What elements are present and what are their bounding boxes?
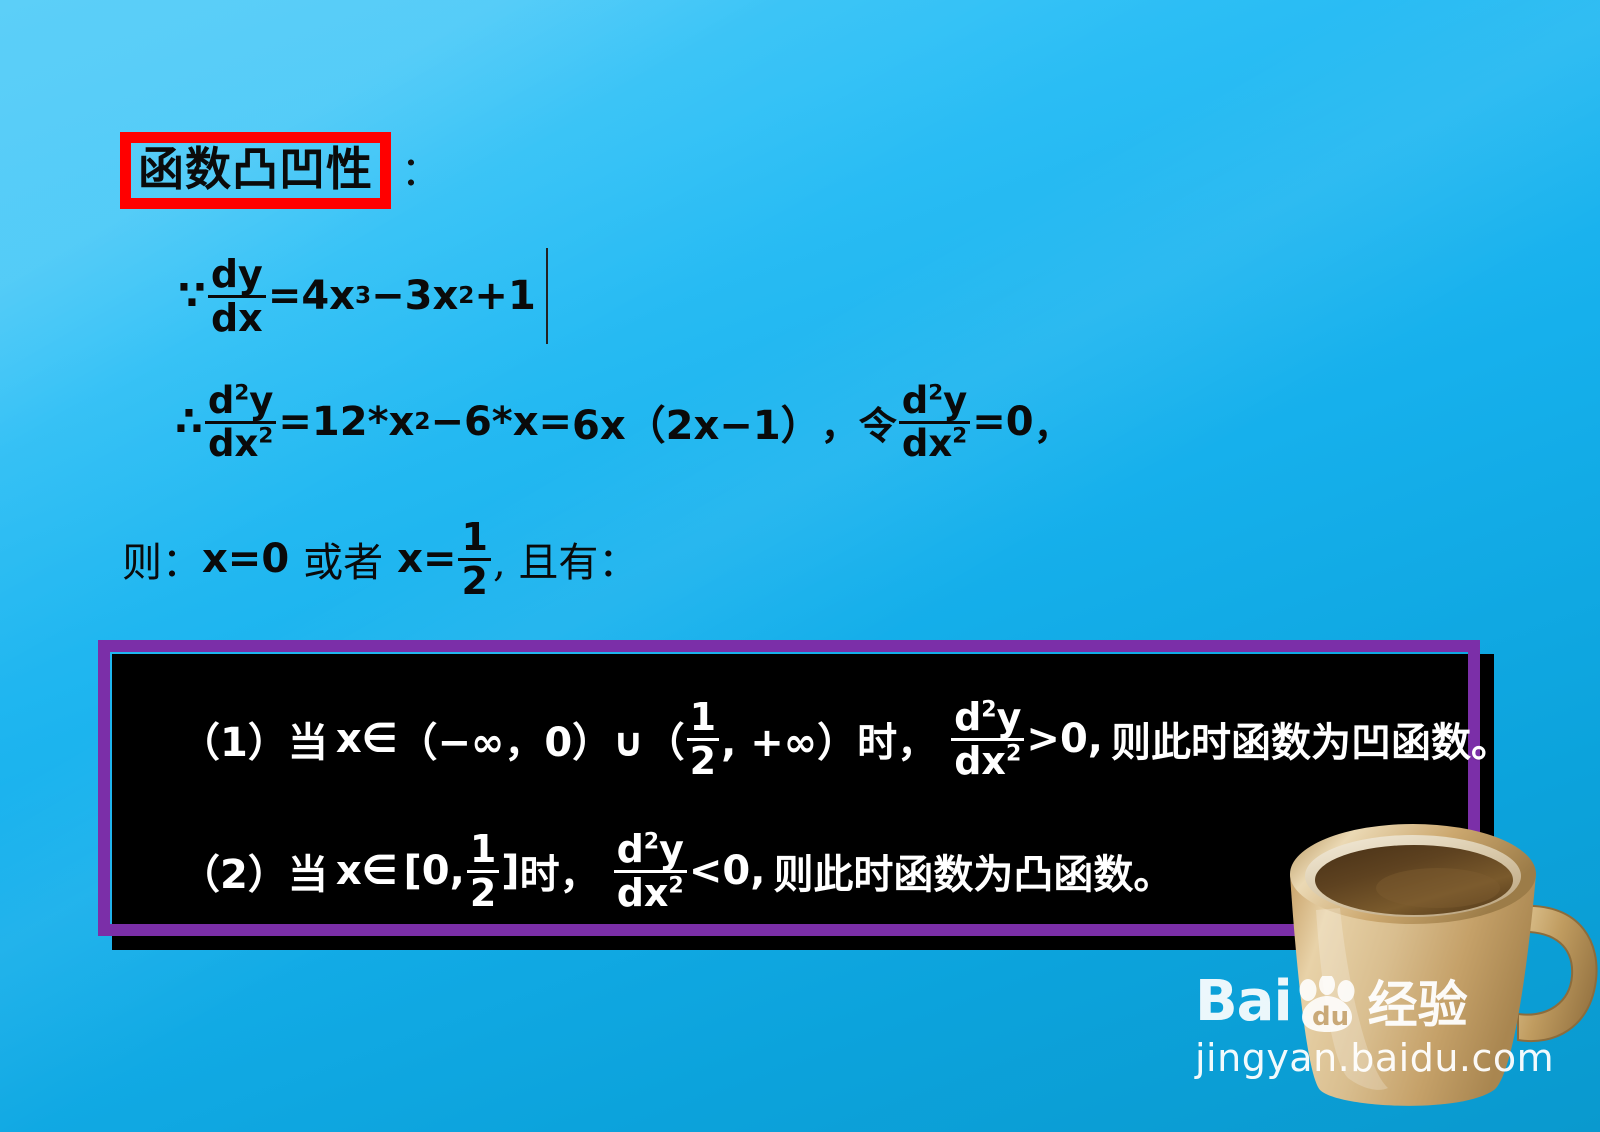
- numerator-y: y: [943, 379, 967, 422]
- equals-sign: =: [268, 273, 302, 319]
- therefore-symbol: ∴: [175, 399, 203, 445]
- fraction-numerator: d2y: [614, 830, 687, 870]
- denominator-dx: dx: [617, 871, 669, 915]
- variable-membership: x∈: [328, 716, 398, 762]
- interval-part-b: ]: [501, 848, 519, 894]
- page-title: 函数凸凹性 ：: [120, 132, 441, 209]
- formula-second-derivative: ∴ d2y dx2 = 12*x 2 −6*x = 6x（2x−1） ， 令 d…: [175, 382, 1072, 462]
- comma-separator: ，: [821, 395, 859, 450]
- trailing-comma: ，: [1034, 395, 1072, 450]
- numerator-y: y: [249, 379, 273, 422]
- conclusion-text: 则此时函数为凸函数。: [765, 842, 1173, 900]
- term-factored: 6x（2x−1）: [572, 393, 821, 451]
- comparison-operator: >0,: [1026, 716, 1103, 762]
- fraction-denominator: dx2: [951, 741, 1024, 781]
- fraction-d2y-dx2: d2y dx2: [951, 698, 1024, 781]
- conclusion-text: 则此时函数为凹函数。: [1103, 710, 1511, 768]
- denominator-dx: dx: [208, 422, 258, 465]
- roots-statement: 则： x=0 或者 x= 1 2 , 且有：: [122, 518, 638, 601]
- title-label: 函数凸凹性: [138, 142, 373, 196]
- fraction-d2y-dx2-second: d2y dx2: [899, 382, 971, 462]
- item-number: （1）: [180, 710, 288, 768]
- when-word: 当: [288, 842, 328, 900]
- equals-sign: =: [278, 399, 312, 445]
- formula-first-derivative: ∵ dy dx = 4x 3 −3x 2 +1: [178, 248, 548, 344]
- numerator-exponent: 2: [644, 829, 659, 854]
- fraction-d2y-dx2: d2y dx2: [614, 830, 687, 913]
- when-word: 当: [288, 710, 328, 768]
- denominator-exponent: 2: [952, 423, 967, 448]
- fraction-denominator: dx2: [899, 424, 970, 463]
- because-symbol: ∵: [178, 273, 206, 319]
- denominator-exponent: 2: [258, 423, 273, 448]
- numerator-d: d: [954, 695, 981, 739]
- term-4x: 4x: [301, 273, 355, 319]
- numerator-d: d: [902, 379, 929, 422]
- variable-membership: x∈: [328, 848, 398, 894]
- numerator-exponent: 2: [981, 697, 996, 722]
- fraction-one-half: 1 2: [458, 518, 490, 601]
- term-minus-3x: −3x: [371, 273, 458, 319]
- interval-part-a: （−∞，0）∪（: [398, 710, 685, 768]
- numerator-y: y: [659, 827, 684, 871]
- denominator-dx: dx: [902, 422, 952, 465]
- numerator-d: d: [208, 379, 235, 422]
- fraction-numerator: 1: [467, 830, 499, 870]
- fraction-numerator: dy: [208, 255, 266, 295]
- interval-part-a: [0,: [398, 848, 465, 894]
- fraction-numerator: d2y: [899, 382, 971, 421]
- fraction-numerator: 1: [458, 518, 490, 558]
- fraction-denominator: 2: [458, 561, 490, 601]
- fraction-denominator: dx2: [614, 873, 687, 913]
- numerator-exponent: 2: [234, 381, 249, 406]
- fraction-numerator: 1: [687, 698, 719, 738]
- equals-sign-2: =: [539, 399, 573, 445]
- fraction-denominator: dx2: [205, 424, 276, 463]
- fraction-denominator: dx: [208, 298, 266, 338]
- title-colon: ：: [401, 139, 441, 203]
- equals-zero: =0: [972, 399, 1033, 445]
- callout-statement-2: （2） 当 x∈ [0, 1 2 ] 时， d2y dx2 <0, 则此时函数为…: [180, 830, 1173, 913]
- fraction-denominator: 2: [687, 741, 719, 781]
- root-value-zero: x=0: [202, 536, 289, 582]
- fraction-one-half: 1 2: [467, 830, 499, 913]
- and-have-suffix: , 且有：: [493, 530, 638, 588]
- numerator-y: y: [997, 695, 1022, 739]
- comparison-operator: <0,: [689, 848, 766, 894]
- fraction-d2y-dx2: d2y dx2: [205, 382, 277, 462]
- term-12x: 12*x: [312, 399, 414, 445]
- time-word: 时，: [520, 842, 600, 900]
- fraction-one-half: 1 2: [687, 698, 719, 781]
- denominator-exponent: 2: [668, 873, 683, 898]
- item-number: （2）: [180, 842, 288, 900]
- title-highlight-box: 函数凸凹性: [120, 132, 391, 209]
- then-prefix: 则：: [122, 530, 202, 588]
- numerator-d: d: [617, 827, 644, 871]
- time-word: 时，: [857, 710, 937, 768]
- text-cursor-caret[interactable]: [546, 248, 548, 344]
- callout-statement-1: （1） 当 x∈ （−∞，0）∪（ 1 2 , +∞） 时， d2y dx2 >…: [180, 698, 1511, 781]
- fraction-denominator: 2: [467, 873, 499, 913]
- denominator-dx: dx: [954, 739, 1006, 783]
- let-word: 令: [859, 395, 897, 450]
- fraction-numerator: d2y: [951, 698, 1024, 738]
- or-word: 或者: [289, 530, 397, 588]
- term-minus-6x: −6*x: [430, 399, 538, 445]
- coffee-cup-icon: [1268, 778, 1600, 1118]
- interval-part-b: , +∞）: [721, 710, 857, 768]
- fraction-numerator: d2y: [205, 382, 277, 421]
- term-plus-1: +1: [474, 273, 535, 319]
- fraction-dy-dx: dy dx: [208, 255, 266, 338]
- root-value-half-lhs: x=: [397, 536, 456, 582]
- coffee-highlight: [1376, 868, 1500, 908]
- numerator-exponent: 2: [928, 381, 943, 406]
- denominator-exponent: 2: [1006, 741, 1021, 766]
